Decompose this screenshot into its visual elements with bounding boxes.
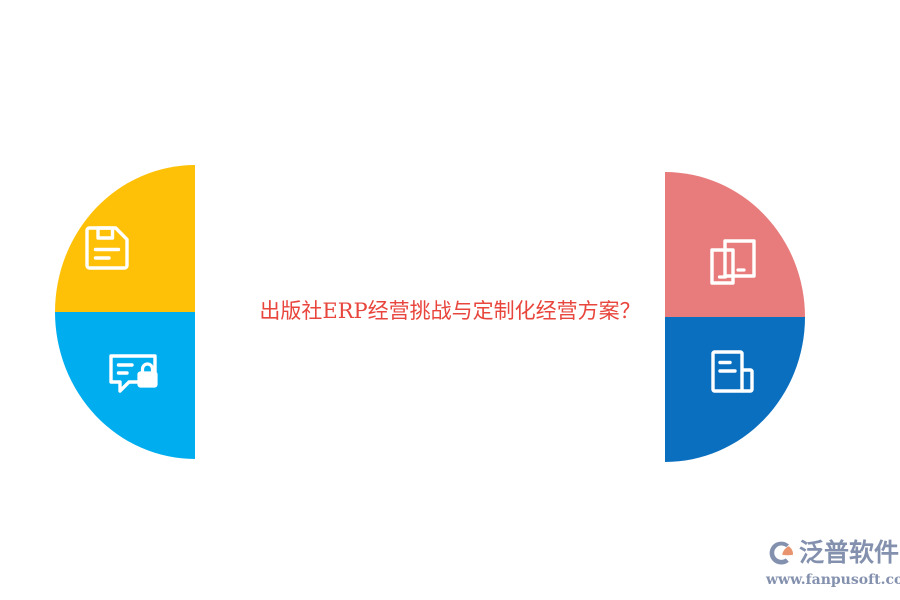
poster-canvas: 出版社ERP经营挑战与定制化经营方案？ 泛普软件 www.fanpusoft.c…	[0, 0, 900, 600]
left-segment-top	[55, 165, 195, 312]
right-segment-bottom	[665, 317, 805, 462]
brand-watermark: 泛普软件 www.fanpusoft.com	[766, 536, 894, 592]
page-title: 出版社ERP经营挑战与定制化经营方案？	[0, 296, 900, 326]
fanpu-logo-mark-icon	[766, 538, 796, 568]
left-segment-bottom	[55, 312, 195, 459]
brand-name: 泛普软件	[799, 538, 899, 568]
brand-url: www.fanpusoft.com	[766, 571, 894, 589]
